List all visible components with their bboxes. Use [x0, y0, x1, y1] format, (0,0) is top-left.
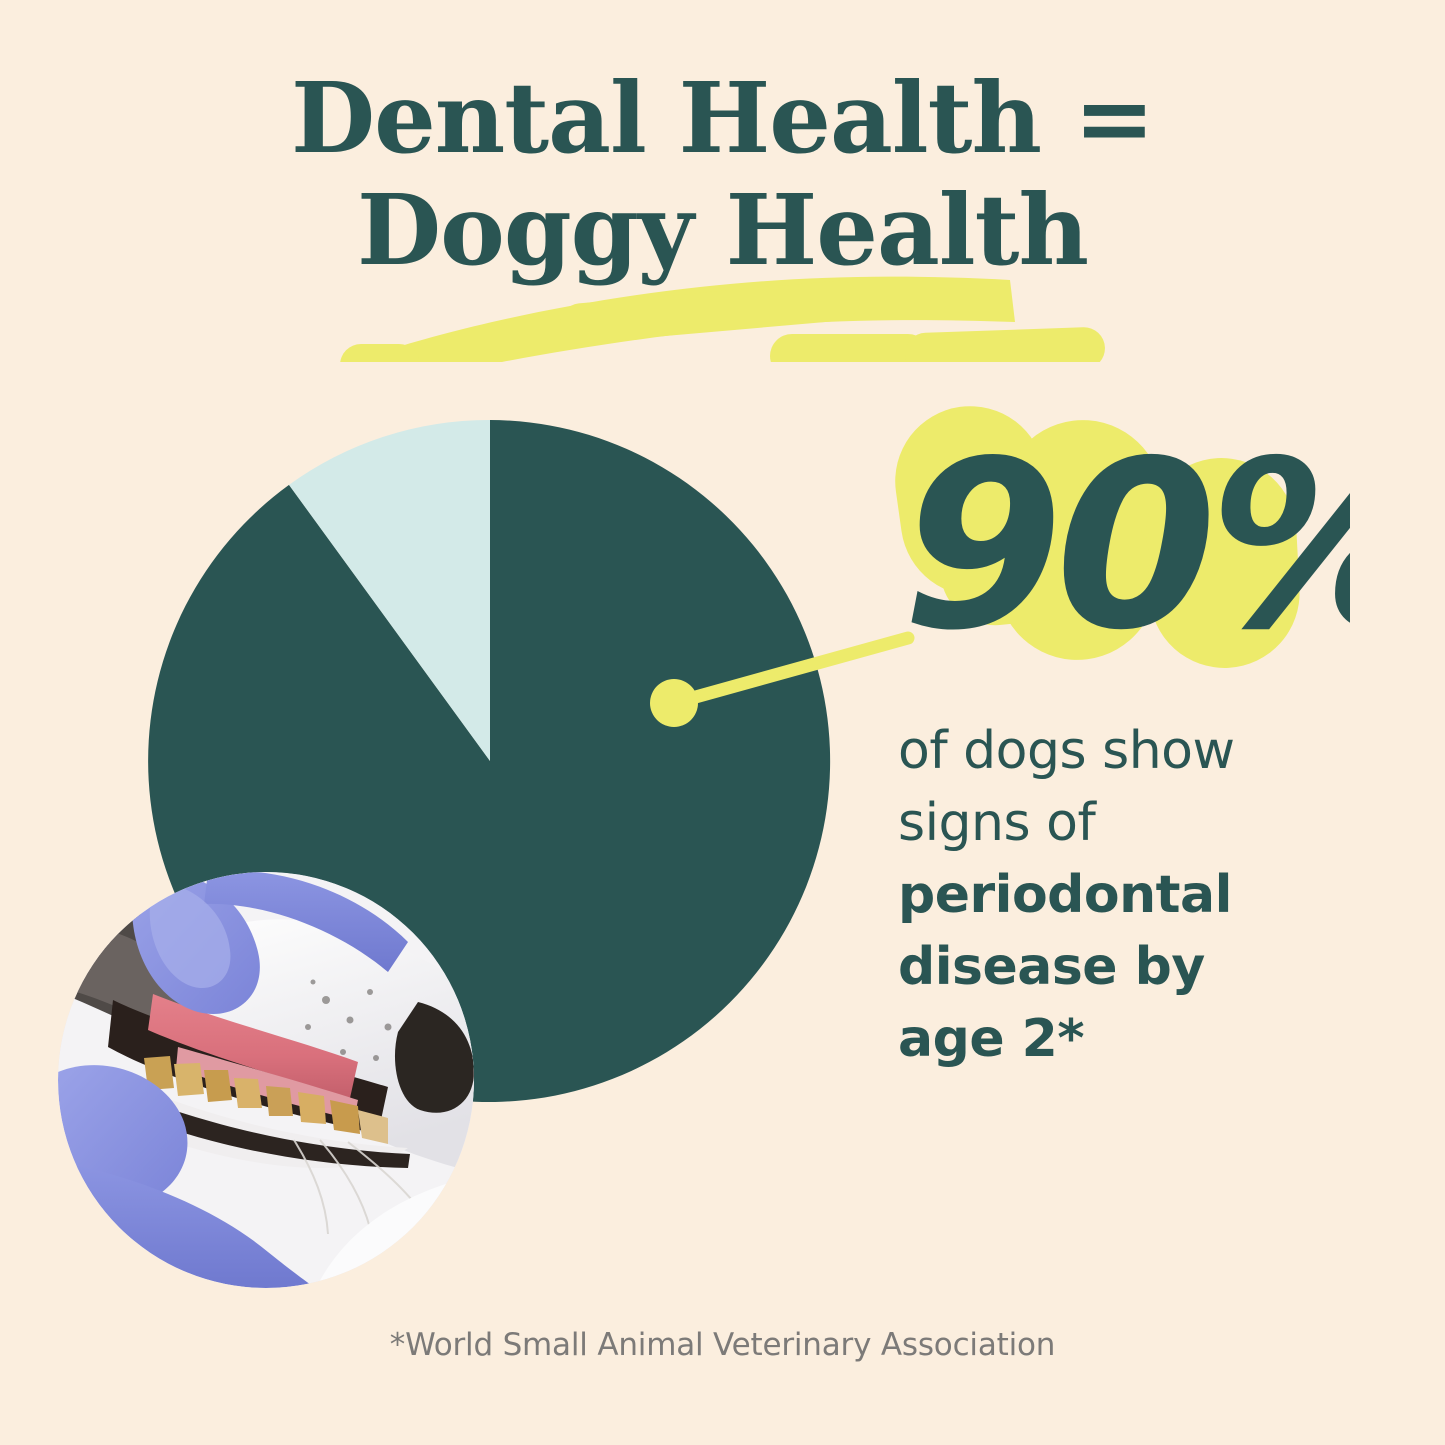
body-line-4: disease by [898, 931, 1368, 1003]
footnote: *World Small Animal Veterinary Associati… [0, 1327, 1445, 1363]
title-block: Dental Health = Doggy Health [0, 62, 1445, 286]
stat-svg: 90% [880, 398, 1350, 698]
body-line-2: signs of [898, 787, 1368, 859]
title-line-1: Dental Health = [0, 62, 1445, 174]
body-line-1: of dogs show [898, 715, 1368, 787]
title-text: Dental Health = Doggy Health [0, 62, 1445, 286]
stat-90-percent: 90% [880, 398, 1350, 698]
dog-teeth-photo [58, 872, 474, 1288]
dog-teeth-photo-illustration [58, 872, 474, 1288]
body-line-5: age 2* [898, 1003, 1368, 1075]
infographic-poster: Dental Health = Doggy Health [0, 0, 1445, 1445]
title-line-2: Doggy Health [0, 174, 1445, 286]
body-line-3: periodontal [898, 859, 1368, 931]
stat-value-text: 90% [902, 411, 1350, 681]
body-copy: of dogs show signs of periodontal diseas… [898, 715, 1368, 1075]
